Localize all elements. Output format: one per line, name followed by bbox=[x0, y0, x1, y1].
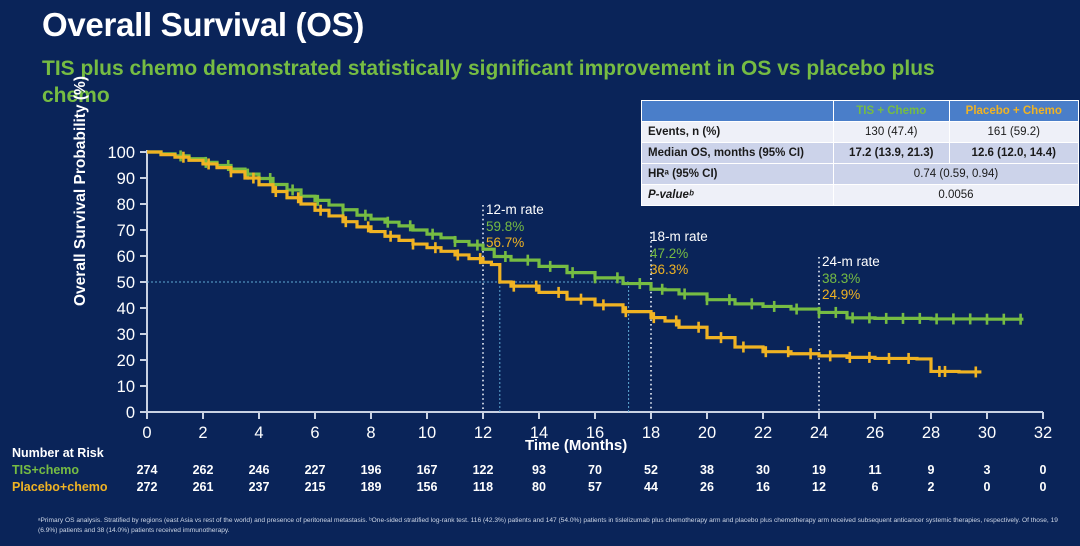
slide-root: Overall Survival (OS) TIS plus chemo dem… bbox=[0, 0, 1080, 546]
x-axis-tick-label: 2 bbox=[198, 424, 207, 442]
annotation-12-month-placebo: 56.7% bbox=[486, 235, 544, 252]
annotation-24-month-rate: 24-m rate 38.3% 24.9% bbox=[822, 254, 880, 304]
annotation-12-month-rate: 12-m rate 59.8% 56.7% bbox=[486, 202, 544, 252]
annotation-12-month-title: 12-m rate bbox=[486, 202, 544, 219]
number-at-risk-value: 93 bbox=[517, 463, 561, 477]
number-at-risk-label-placebo: Placebo+chemo bbox=[12, 480, 108, 494]
number-at-risk-value: 38 bbox=[685, 463, 729, 477]
y-axis-tick-label: 30 bbox=[117, 326, 135, 344]
y-axis-tick-label: 20 bbox=[117, 352, 135, 370]
x-axis-tick-label: 8 bbox=[366, 424, 375, 442]
annotation-18-month-placebo: 36.3% bbox=[650, 262, 708, 279]
survival-curve-tis bbox=[147, 152, 1023, 319]
x-axis-tick-label: 10 bbox=[418, 424, 436, 442]
x-axis-tick-label: 22 bbox=[754, 424, 772, 442]
annotation-24-month-placebo: 24.9% bbox=[822, 287, 880, 304]
x-axis-tick-label: 30 bbox=[978, 424, 996, 442]
number-at-risk-value: 274 bbox=[125, 463, 169, 477]
x-axis-tick-label: 18 bbox=[642, 424, 660, 442]
number-at-risk-row-placebo: Placebo+chemo 27226123721518915611880574… bbox=[0, 480, 1080, 497]
number-at-risk-value: 272 bbox=[125, 480, 169, 494]
annotation-24-month-title: 24-m rate bbox=[822, 254, 880, 271]
y-axis-tick-label: 50 bbox=[117, 274, 135, 292]
number-at-risk-value: 2 bbox=[909, 480, 953, 494]
x-axis-tick-label: 4 bbox=[254, 424, 263, 442]
number-at-risk-value: 167 bbox=[405, 463, 449, 477]
number-at-risk-row-tis: TIS+chemo 274262246227196167122937052383… bbox=[0, 463, 1080, 480]
number-at-risk-value: 0 bbox=[1021, 463, 1065, 477]
number-at-risk-label-tis: TIS+chemo bbox=[12, 463, 79, 477]
number-at-risk-value: 261 bbox=[181, 480, 225, 494]
x-axis-tick-label: 24 bbox=[810, 424, 828, 442]
x-axis-tick-label: 0 bbox=[142, 424, 151, 442]
y-axis-tick-label: 10 bbox=[117, 378, 135, 396]
y-axis-tick-label: 100 bbox=[107, 144, 135, 162]
x-axis-tick-label: 6 bbox=[310, 424, 319, 442]
number-at-risk-value: 237 bbox=[237, 480, 281, 494]
y-axis-tick-label: 0 bbox=[126, 404, 135, 422]
number-at-risk-value: 6 bbox=[853, 480, 897, 494]
annotation-18-month-tis: 47.2% bbox=[650, 246, 708, 263]
number-at-risk-value: 122 bbox=[461, 463, 505, 477]
y-axis-tick-label: 60 bbox=[117, 248, 135, 266]
footnote-line-1: ᵃPrimary OS analysis. Stratified by regi… bbox=[38, 517, 829, 524]
number-at-risk-value: 215 bbox=[293, 480, 337, 494]
x-axis-tick-label: 32 bbox=[1034, 424, 1052, 442]
number-at-risk-value: 19 bbox=[797, 463, 841, 477]
number-at-risk-value: 70 bbox=[573, 463, 617, 477]
number-at-risk-value: 156 bbox=[405, 480, 449, 494]
number-at-risk-value: 0 bbox=[1021, 480, 1065, 494]
y-axis-tick-label: 80 bbox=[117, 196, 135, 214]
y-axis-tick-label: 70 bbox=[117, 222, 135, 240]
y-axis-tick-label: 40 bbox=[117, 300, 135, 318]
annotation-24-month-tis: 38.3% bbox=[822, 271, 880, 288]
number-at-risk-value: 26 bbox=[685, 480, 729, 494]
number-at-risk-value: 80 bbox=[517, 480, 561, 494]
x-axis-tick-label: 12 bbox=[474, 424, 492, 442]
number-at-risk-title: Number at Risk bbox=[12, 446, 104, 460]
x-axis-tick-label: 26 bbox=[866, 424, 884, 442]
number-at-risk-value: 44 bbox=[629, 480, 673, 494]
annotation-18-month-rate: 18-m rate 47.2% 36.3% bbox=[650, 229, 708, 279]
number-at-risk-value: 196 bbox=[349, 463, 393, 477]
annotation-18-month-title: 18-m rate bbox=[650, 229, 708, 246]
number-at-risk-value: 118 bbox=[461, 480, 505, 494]
number-at-risk-value: 3 bbox=[965, 463, 1009, 477]
number-at-risk-value: 0 bbox=[965, 480, 1009, 494]
number-at-risk-value: 9 bbox=[909, 463, 953, 477]
number-at-risk-value: 246 bbox=[237, 463, 281, 477]
number-at-risk-value: 11 bbox=[853, 463, 897, 477]
number-at-risk-value: 52 bbox=[629, 463, 673, 477]
y-axis-title: Overall Survival Probability (%) bbox=[72, 66, 90, 316]
number-at-risk-value: 30 bbox=[741, 463, 785, 477]
number-at-risk-value: 227 bbox=[293, 463, 337, 477]
x-axis-tick-label: 28 bbox=[922, 424, 940, 442]
x-axis-tick-label: 20 bbox=[698, 424, 716, 442]
number-at-risk-value: 16 bbox=[741, 480, 785, 494]
footnote: ᵃPrimary OS analysis. Stratified by regi… bbox=[38, 516, 1058, 536]
number-at-risk-value: 189 bbox=[349, 480, 393, 494]
number-at-risk-value: 57 bbox=[573, 480, 617, 494]
number-at-risk-value: 12 bbox=[797, 480, 841, 494]
number-at-risk-value: 262 bbox=[181, 463, 225, 477]
y-axis-tick-label: 90 bbox=[117, 170, 135, 188]
x-axis-title: Time (Months) bbox=[525, 437, 627, 454]
annotation-12-month-tis: 59.8% bbox=[486, 219, 544, 236]
